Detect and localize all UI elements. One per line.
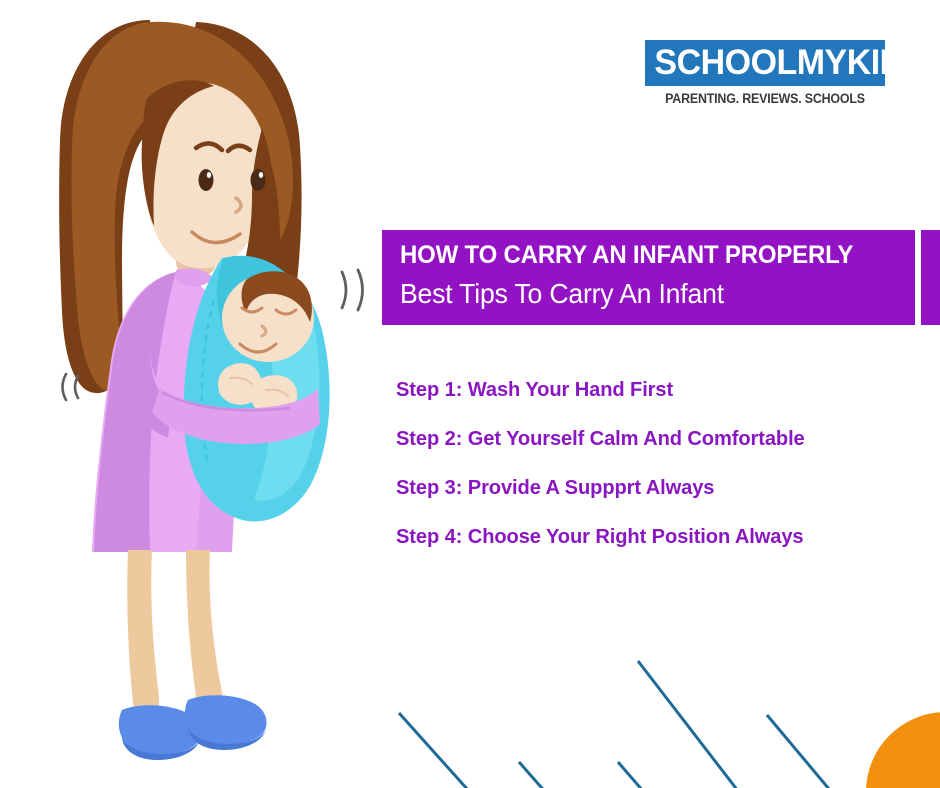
diagonal-line-5 [767,715,855,788]
eye-left [199,169,214,191]
eye-right [251,169,266,191]
logo-blue-box: SCHOOLMYKIDS [645,40,885,86]
motion-arc-right-outer [358,270,363,310]
mother-and-baby-illustration [0,0,400,788]
diagonal-line-3 [618,762,668,788]
diagonal-line-4 [638,661,745,788]
motion-arc-left-outer [63,374,67,400]
logo-tagline: PARENTING. REVIEWS. SCHOOLS [655,91,876,106]
banner-title: HOW TO CARRY AN INFANT PROPERLY [400,241,853,270]
logo-wordmark: SCHOOLMYKIDS [654,45,875,80]
motion-arc-right-inner [342,272,346,308]
infographic-canvas: SCHOOLMYKIDS PARENTING. REVIEWS. SCHOOLS… [0,0,940,788]
banner-accent-sliver [921,230,940,325]
eye-left-glint [207,172,211,178]
step-item-4: Step 4: Choose Your Right Position Alway… [396,527,805,576]
step-item-2: Step 2: Get Yourself Calm And Comfortabl… [396,429,805,478]
leg-left [127,550,159,730]
step-item-1: Step 1: Wash Your Hand First [396,380,805,429]
diagonal-line-2 [519,762,570,788]
eye-right-glint [259,172,263,178]
step-item-3: Step 3: Provide A Suppprt Always [396,478,805,527]
diagonal-line-1 [399,713,477,788]
orange-corner-circle [866,712,940,788]
steps-list: Step 1: Wash Your Hand First Step 2: Get… [396,380,813,576]
banner-subtitle: Best Tips To Carry An Infant [400,278,724,310]
title-banner: HOW TO CARRY AN INFANT PROPERLY Best Tip… [382,230,915,325]
motion-arc-left-inner [75,376,78,398]
schoolmykids-logo[interactable]: SCHOOLMYKIDS PARENTING. REVIEWS. SCHOOLS [645,40,885,106]
